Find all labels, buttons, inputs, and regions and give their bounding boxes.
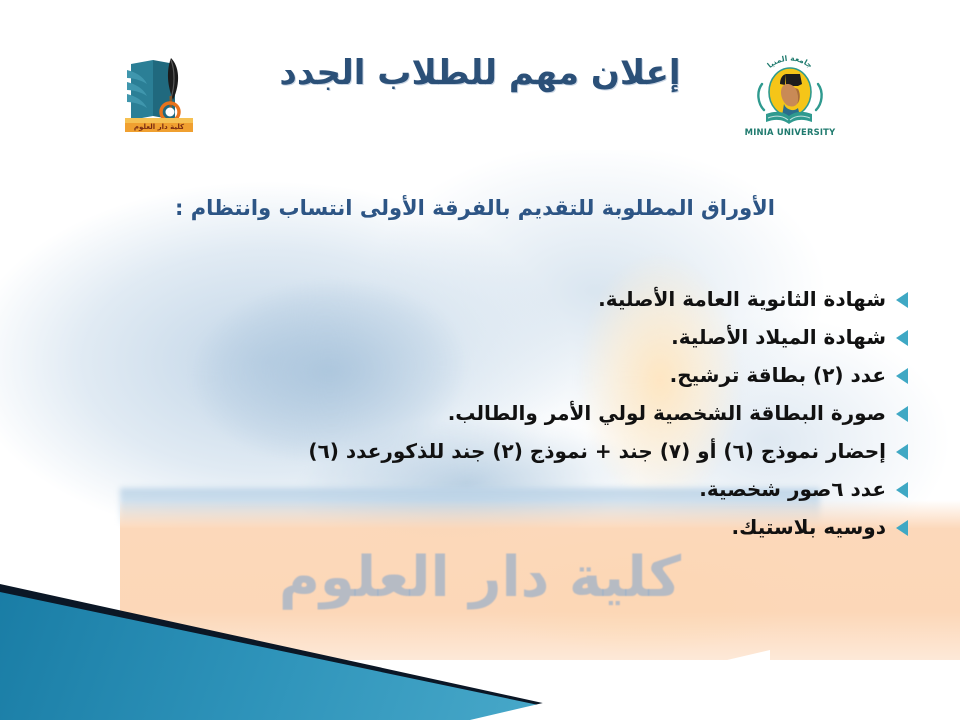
list-item-label: عدد (٢) بطاقة ترشيح. bbox=[52, 364, 886, 387]
list-item: إحضار نموذج (٦) أو (٧) جند + نموذج (٢) ج… bbox=[52, 432, 908, 470]
list-item: شهادة الميلاد الأصلية. bbox=[52, 318, 908, 356]
triangle-bullet-icon bbox=[896, 482, 908, 498]
triangle-bullet-icon bbox=[896, 520, 908, 536]
faculty-dar-aloloum-logo: كلية دار العلوم bbox=[113, 46, 205, 138]
triangle-bullet-icon bbox=[896, 444, 908, 460]
list-item-label: عدد ٦صور شخصية. bbox=[52, 478, 886, 501]
svg-text:MINIA UNIVERSITY: MINIA UNIVERSITY bbox=[745, 127, 836, 137]
requirements-list: شهادة الثانوية العامة الأصلية. شهادة الم… bbox=[52, 280, 908, 546]
list-item-label: إحضار نموذج (٦) أو (٧) جند + نموذج (٢) ج… bbox=[52, 440, 886, 463]
minia-university-logo: جامعة المنيا bbox=[742, 44, 838, 140]
triangle-bullet-icon bbox=[896, 330, 908, 346]
slide-header: كلية دار العلوم جامعة المنيا bbox=[0, 0, 960, 160]
list-item-label: شهادة الثانوية العامة الأصلية. bbox=[52, 288, 886, 311]
list-item: دوسيه بلاستيك. bbox=[52, 508, 908, 546]
svg-text:كلية دار العلوم: كلية دار العلوم bbox=[134, 123, 185, 131]
triangle-bullet-icon bbox=[896, 368, 908, 384]
list-item-label: شهادة الميلاد الأصلية. bbox=[52, 326, 886, 349]
triangle-bullet-icon bbox=[896, 406, 908, 422]
list-item: عدد (٢) بطاقة ترشيح. bbox=[52, 356, 908, 394]
list-item: صورة البطاقة الشخصية لولي الأمر والطالب. bbox=[52, 394, 908, 432]
announcement-slide: كلية دار العلوم bbox=[0, 0, 960, 720]
page-title: إعلان مهم للطلاب الجدد bbox=[230, 52, 730, 95]
list-item: شهادة الثانوية العامة الأصلية. bbox=[52, 280, 908, 318]
list-item-label: دوسيه بلاستيك. bbox=[52, 516, 886, 539]
requirements-subtitle: الأوراق المطلوبة للتقديم بالفرقة الأولى … bbox=[45, 196, 905, 220]
list-item: عدد ٦صور شخصية. bbox=[52, 470, 908, 508]
list-item-label: صورة البطاقة الشخصية لولي الأمر والطالب. bbox=[52, 402, 886, 425]
wedge-white-cut bbox=[470, 650, 770, 720]
triangle-bullet-icon bbox=[896, 292, 908, 308]
